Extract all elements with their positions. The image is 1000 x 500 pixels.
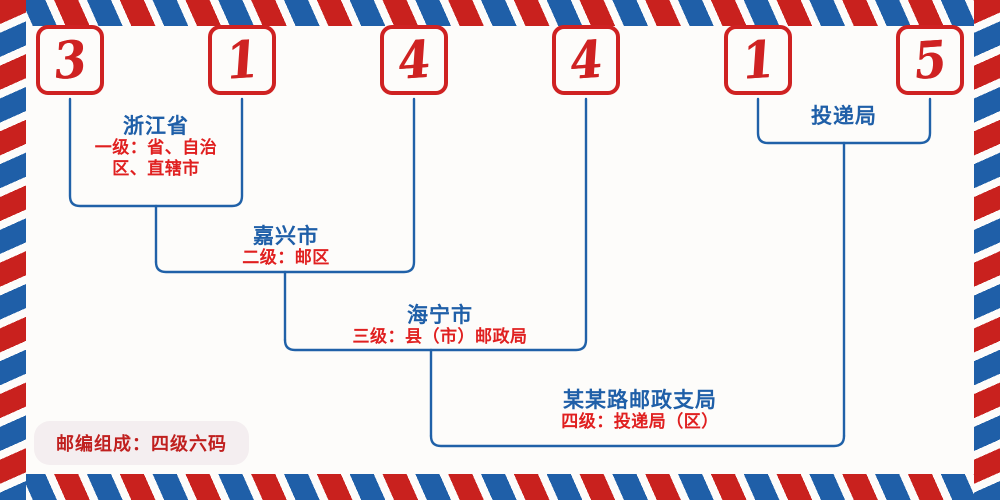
group-4-title: 某某路邮政支局: [440, 388, 840, 412]
digit-box-6[interactable]: 5: [896, 25, 964, 95]
postal-code-diagram: 3 1 4 4 1 5 浙江省 一级：省、自治区、直辖市 嘉兴市 二级：邮区 海…: [0, 0, 1000, 500]
digit-row: 3 1 4 4 1 5: [0, 0, 1000, 100]
group-level-4: 某某路邮政支局 四级：投递局（区）: [440, 388, 840, 433]
digit-glyph-5: 1: [740, 33, 776, 87]
delivery-office-label: 投递局: [768, 104, 920, 128]
group-2-subtitle: 二级：邮区: [180, 248, 392, 269]
composition-badge: 邮编组成：四级六码: [34, 421, 249, 465]
digit-box-4[interactable]: 4: [552, 25, 620, 95]
digit-glyph-3: 4: [396, 33, 432, 87]
digit-glyph-4: 4: [568, 33, 604, 87]
group-level-3: 海宁市 三级：县（市）邮政局: [296, 303, 584, 348]
delivery-office-title: 投递局: [768, 104, 920, 128]
digit-box-1[interactable]: 3: [36, 25, 104, 95]
group-level-2: 嘉兴市 二级：邮区: [180, 224, 392, 269]
digit-glyph-6: 5: [912, 33, 948, 87]
group-3-title: 海宁市: [296, 303, 584, 327]
group-1-subtitle: 一级：省、自治区、直辖市: [81, 138, 231, 181]
digit-glyph-1: 3: [52, 33, 88, 87]
digit-glyph-2: 1: [224, 33, 260, 87]
digit-box-3[interactable]: 4: [380, 25, 448, 95]
group-3-subtitle: 三级：县（市）邮政局: [296, 327, 584, 348]
group-level-1: 浙江省 一级：省、自治区、直辖市: [81, 114, 231, 181]
group-2-title: 嘉兴市: [180, 224, 392, 248]
group-1-title: 浙江省: [81, 114, 231, 138]
digit-box-5[interactable]: 1: [724, 25, 792, 95]
group-4-subtitle: 四级：投递局（区）: [440, 412, 840, 433]
digit-box-2[interactable]: 1: [208, 25, 276, 95]
